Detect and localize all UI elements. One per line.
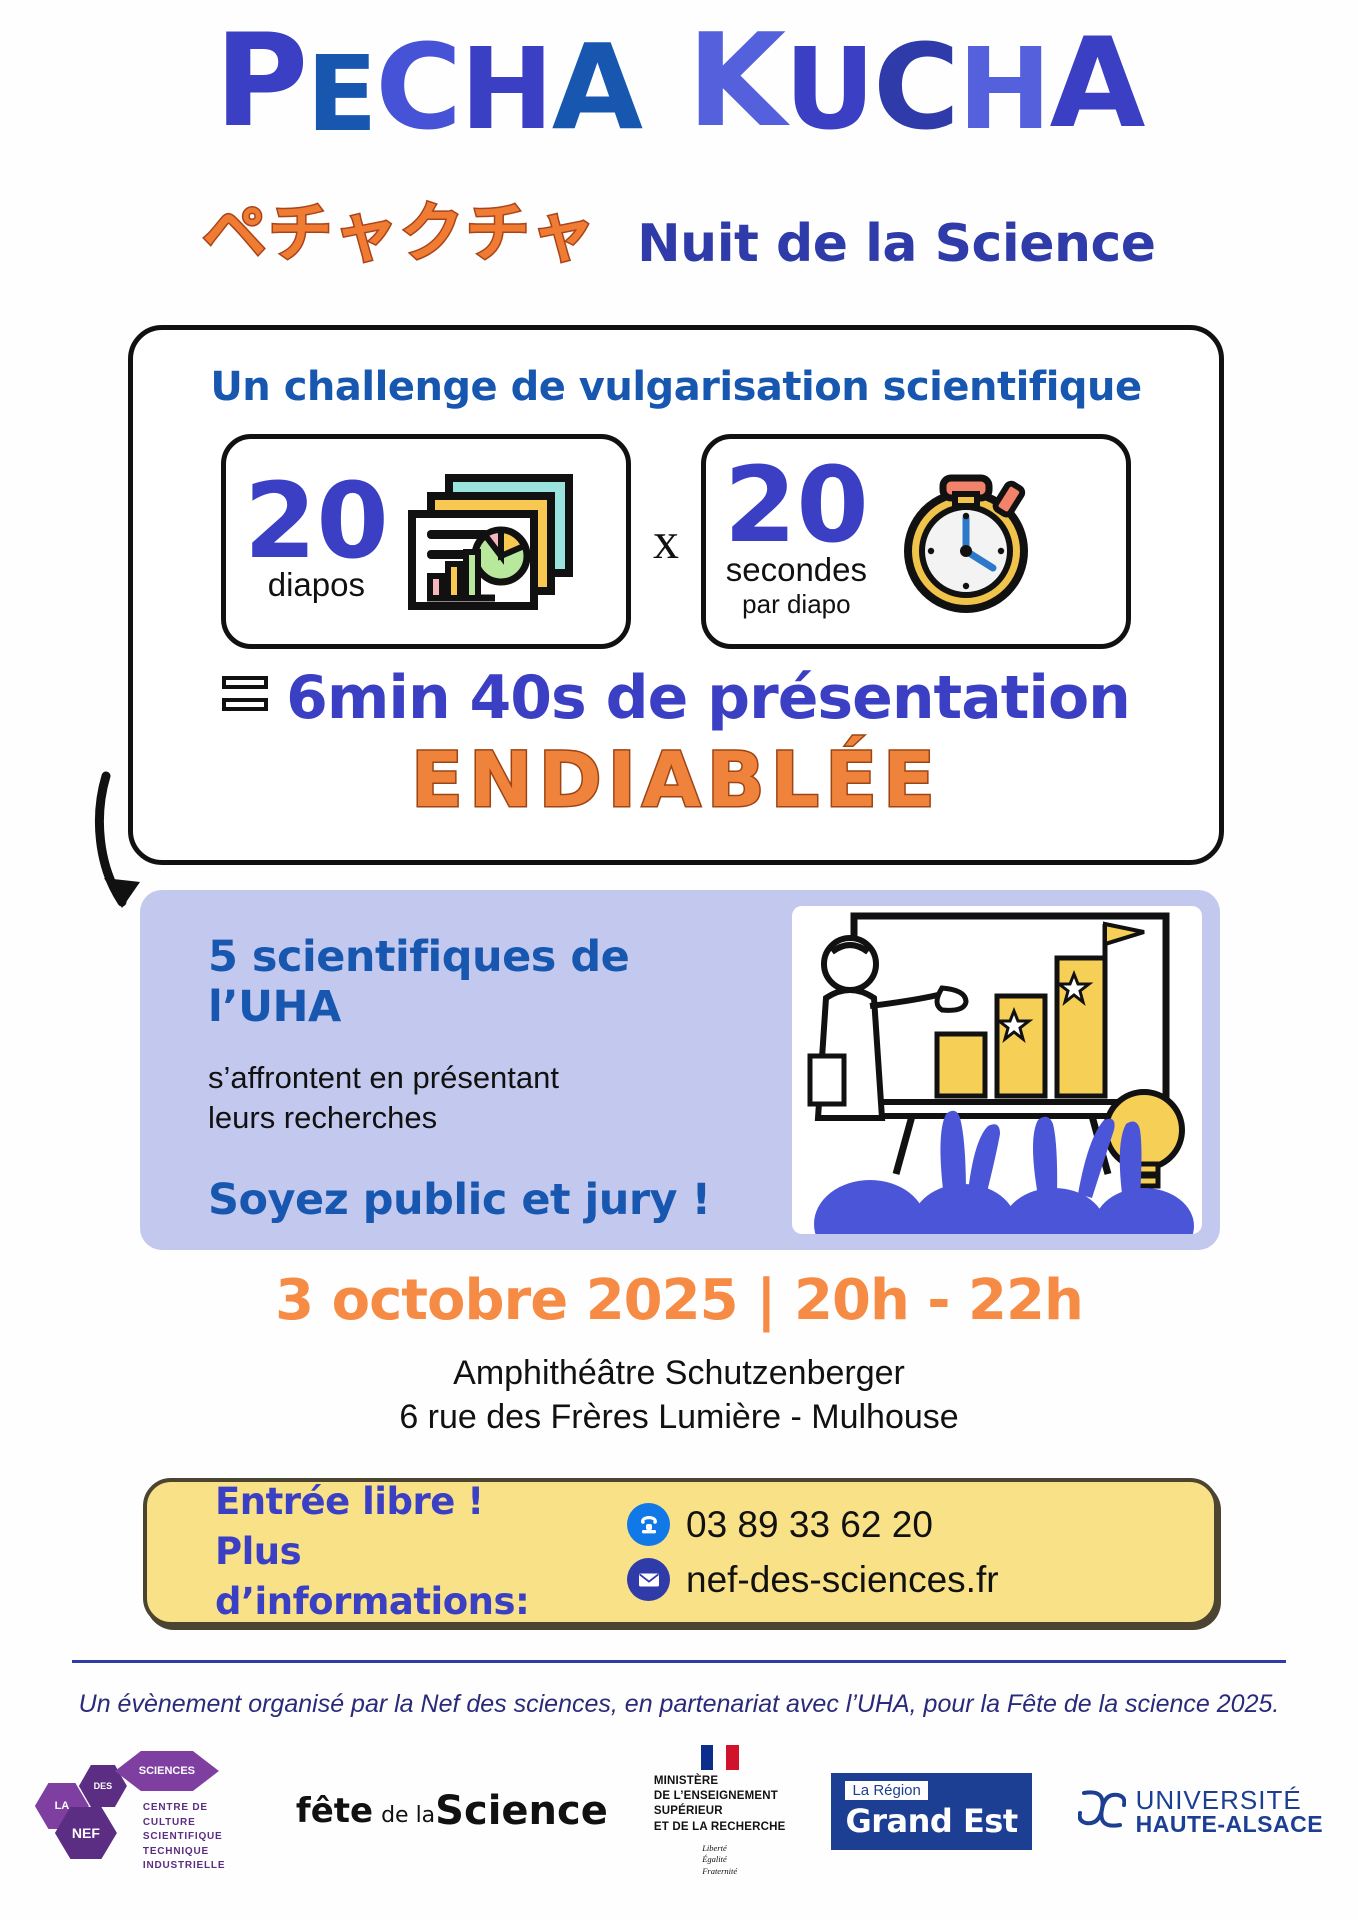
devise-line2: Égalité [702,1854,737,1865]
wordmark-letter: A [552,28,641,146]
phone-number: 03 89 33 62 20 [686,1504,933,1546]
wordmark-letter: H [460,34,552,146]
nef-sub-line3: SCIENTIFIQUE [143,1830,225,1845]
fete-word-dela: de la [381,1806,435,1827]
devise-line3: Fraternité [702,1866,737,1877]
wordmark-letter: E [306,42,375,146]
slides-number: 20 [244,479,389,564]
fete-word-fete: fête [296,1795,373,1827]
logo-region-grand-est: La Région Grand Est [831,1773,1031,1850]
uha-line1: UNIVERSITÉ [1136,1787,1323,1813]
poster-root: P E C H A K U C H A ペチャクチャ Nuit de la Sc… [0,0,1358,1920]
ministere-line3: SUPÉRIEUR [654,1804,786,1819]
logo-ministere: MINISTÈRE DE L’ENSEIGNEMENT SUPÉRIEUR ET… [654,1745,786,1877]
ministere-line2: DE L’ENSEIGNEMENT [654,1789,786,1804]
japanese-title: ペチャクチャ [202,182,597,274]
more-info-label: Plus d’informations: [215,1527,627,1627]
partner-logos: LA NEF DES SCIENCES CENTRE DE CULTURE SC… [0,1745,1358,1877]
nef-hex-nef-label: NEF [55,1807,117,1859]
nef-sub-line1: CENTRE DE [143,1801,225,1816]
participants-body-line1: s’affrontent en présentant [208,1060,559,1095]
presentation-audience-illustration [792,906,1202,1234]
contact-labels: Entrée libre ! Plus d’informations: [147,1477,627,1627]
french-flag-icon [701,1745,739,1770]
participants-callout: Soyez public et jury ! [208,1175,760,1225]
title-block: P E C H A K U C H A [0,18,1358,146]
participants-body-line2: leurs recherches [208,1100,437,1135]
seconds-label: secondes [726,551,867,589]
website-url: nef-des-sciences.fr [686,1559,999,1601]
stopwatch-icon [881,454,1051,629]
nef-sub-line5: INDUSTRIELLE [143,1859,225,1874]
wordmark: P E C H A K U C H A [0,18,1358,146]
ministere-line4: ET DE LA RECHERCHE [654,1820,786,1835]
wordmark-letter: A [1050,22,1144,146]
venue-line1: Amphithéâtre Schutzenberger [0,1352,1358,1396]
logo-fete-de-la-science: fête de la Science [296,1792,608,1830]
equals-icon [222,676,268,720]
challenge-box: Un challenge de vulgarisation scientifiq… [128,325,1224,865]
seconds-number: 20 [724,463,869,548]
logo-nef-des-sciences: LA NEF DES SCIENCES CENTRE DE CULTURE SC… [35,1751,250,1871]
nef-hex-sciences-label: SCIENCES [115,1751,219,1791]
phone-row[interactable]: 03 89 33 62 20 [627,1503,999,1546]
participants-body: s’affrontent en présentant leurs recherc… [208,1058,760,1137]
slides-text: 20 diapos [244,479,389,604]
seconds-card: 20 secondes par diapo [701,434,1131,649]
wordmark-letter: U [784,34,873,146]
slides-label: diapos [268,566,365,604]
nef-sub-line4: TECHNIQUE [143,1845,225,1860]
contact-box: Entrée libre ! Plus d’informations: 03 8… [143,1478,1218,1626]
wordmark-letter: K [687,18,784,146]
event-subtitle: Nuit de la Science [637,214,1155,274]
fete-word-science: Science [435,1792,608,1830]
result-row: 6min 40s de présentation [133,663,1219,733]
formula-row: 20 diapos [133,434,1219,649]
ministere-line1: MINISTÈRE [654,1774,786,1789]
japanese-subtitle-row: ペチャクチャ Nuit de la Science [0,182,1358,274]
wordmark-letter: P [215,18,307,146]
uha-text: UNIVERSITÉ HAUTE-ALSACE [1136,1787,1323,1836]
contact-details: 03 89 33 62 20 nef-des-sciences.fr [627,1503,999,1601]
seconds-sublabel: par diapo [742,589,850,620]
ministere-name: MINISTÈRE DE L’ENSEIGNEMENT SUPÉRIEUR ET… [654,1774,786,1835]
event-venue: Amphithéâtre Schutzenberger 6 rue des Fr… [0,1352,1358,1439]
uha-mark-icon [1078,1787,1126,1836]
challenge-heading: Un challenge de vulgarisation scientifiq… [133,364,1219,410]
emphasis-word: ENDIABLÉE [133,735,1219,824]
website-row[interactable]: nef-des-sciences.fr [627,1558,999,1601]
organiser-note: Un évènement organisé par la Nef des sci… [0,1690,1358,1719]
footer-divider [72,1660,1286,1663]
devise-republique: Liberté Égalité Fraternité [702,1843,737,1877]
free-entry-label: Entrée libre ! [215,1477,627,1527]
uha-line2: HAUTE-ALSACE [1136,1813,1323,1836]
slides-stack-icon [403,464,578,619]
wordmark-letter: C [873,28,958,146]
multiplication-operator: x [653,512,679,571]
wordmark-letter: C [375,28,460,146]
grandest-line1: La Région [845,1781,927,1800]
result-duration: 6min 40s de présentation [286,663,1130,733]
telephone-icon [627,1503,670,1546]
venue-line2: 6 rue des Frères Lumière - Mulhouse [0,1396,1358,1440]
participants-text: 5 scientifiques de l’UHA s’affrontent en… [140,890,760,1250]
nef-subtitle: CENTRE DE CULTURE SCIENTIFIQUE TECHNIQUE… [143,1801,225,1874]
grandest-line2: Grand Est [845,1802,1017,1840]
participants-panel: 5 scientifiques de l’UHA s’affrontent en… [140,890,1220,1250]
logo-universite-haute-alsace: UNIVERSITÉ HAUTE-ALSACE [1078,1787,1323,1836]
wordmark-letter: H [958,34,1050,146]
participants-heading: 5 scientifiques de l’UHA [208,932,760,1032]
event-datetime: 3 octobre 2025 | 20h - 22h [0,1268,1358,1333]
devise-line1: Liberté [702,1843,737,1854]
envelope-icon [627,1558,670,1601]
slides-card: 20 diapos [221,434,631,649]
nef-sub-line2: CULTURE [143,1816,225,1831]
seconds-text: 20 secondes par diapo [724,463,869,619]
